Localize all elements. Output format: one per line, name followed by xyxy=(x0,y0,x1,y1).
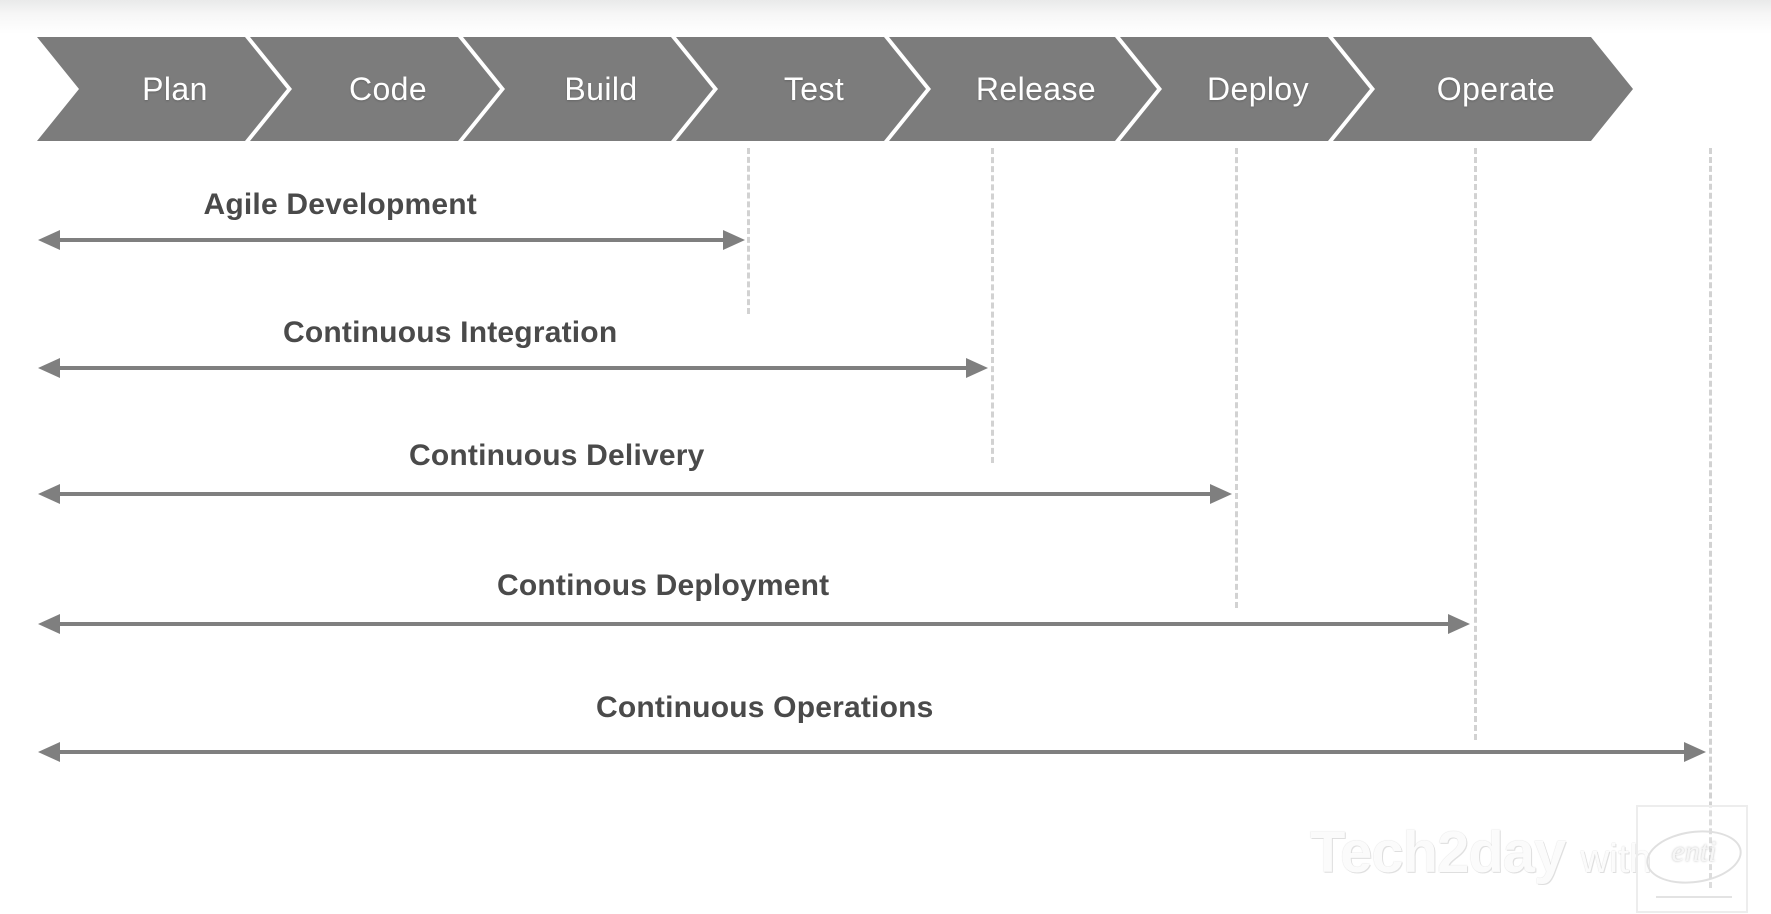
watermark-suffix: with xyxy=(1580,837,1651,881)
guide-line-2 xyxy=(991,148,994,463)
guide-line-5 xyxy=(1709,148,1712,888)
guide-line-4 xyxy=(1474,148,1477,740)
practice-arrow-continuous-operations xyxy=(38,741,1706,763)
pipeline-stage-bar: PlanCodeBuildTestReleaseDeployOperate xyxy=(0,37,1771,141)
watermark: Tech2day with enti xyxy=(1300,805,1760,913)
pipeline-stage-test[interactable]: Test xyxy=(676,37,926,141)
practice-label-continous-deployment: Continous Deployment xyxy=(497,569,829,603)
watermark-main: Tech2day xyxy=(1310,820,1565,885)
practice-arrow-continuous-delivery xyxy=(38,483,1232,505)
practice-label-continuous-delivery: Continuous Delivery xyxy=(409,439,705,473)
practice-label-continuous-integration: Continuous Integration xyxy=(283,316,617,350)
pipeline-stage-label: Operate xyxy=(1437,71,1555,108)
pipeline-stage-label: Deploy xyxy=(1207,71,1309,108)
watermark-logo: enti xyxy=(1636,805,1748,913)
practice-arrow-agile-development xyxy=(38,229,745,251)
pipeline-stage-release[interactable]: Release xyxy=(889,37,1157,141)
pipeline-stage-label: Plan xyxy=(142,71,208,108)
practice-label-agile-development: Agile Development xyxy=(204,188,477,222)
pipeline-stage-operate[interactable]: Operate xyxy=(1333,37,1633,141)
pipeline-stage-build[interactable]: Build xyxy=(463,37,713,141)
guide-line-3 xyxy=(1235,148,1238,608)
pipeline-stage-label: Code xyxy=(349,71,427,108)
watermark-logo-ellipse-icon xyxy=(1643,825,1745,890)
pipeline-stage-deploy[interactable]: Deploy xyxy=(1120,37,1370,141)
pipeline-stage-label: Release xyxy=(976,71,1096,108)
pipeline-stage-plan[interactable]: Plan xyxy=(37,37,287,141)
practice-arrow-continous-deployment xyxy=(38,613,1470,635)
watermark-text: Tech2day with xyxy=(1310,819,1652,886)
guide-line-1 xyxy=(747,148,750,314)
diagram-canvas: PlanCodeBuildTestReleaseDeployOperate Ag… xyxy=(0,0,1771,914)
watermark-logo-underline xyxy=(1656,896,1732,898)
watermark-logo-script: enti xyxy=(1654,835,1734,869)
pipeline-stage-label: Test xyxy=(784,71,844,108)
practice-label-continuous-operations: Continuous Operations xyxy=(596,691,934,725)
practice-arrow-continuous-integration xyxy=(38,357,988,379)
pipeline-stage-label: Build xyxy=(564,71,637,108)
pipeline-stage-code[interactable]: Code xyxy=(250,37,500,141)
